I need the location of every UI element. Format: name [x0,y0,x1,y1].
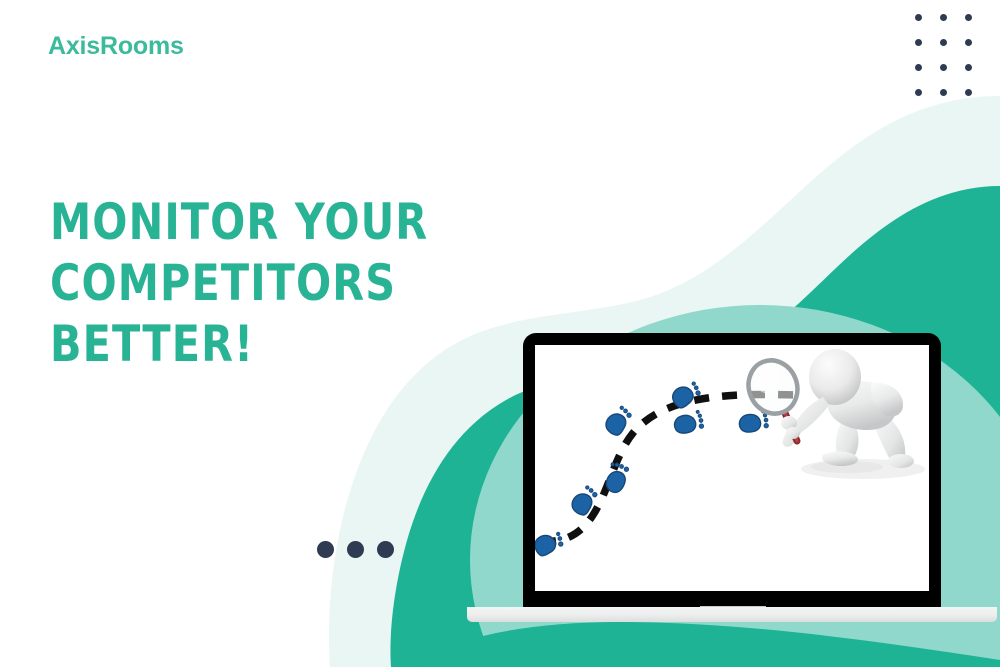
footprint-icon [562,478,606,521]
grid-dot [940,89,947,96]
grid-dot [940,39,947,46]
grid-dot [915,89,922,96]
grid-dot [915,64,922,71]
grid-dot [965,39,972,46]
magnifier-figure-icon [741,349,925,479]
grid-dot [965,89,972,96]
laptop-bezel [523,333,941,609]
grid-dot [915,14,922,21]
three-dots-icon [317,541,394,558]
dot-grid-icon [915,14,974,98]
accent-dot [317,541,334,558]
magnifier-lens [741,353,806,421]
page-title: MONITOR YOUR COMPETITORS BETTER! [50,192,400,375]
laptop-base [467,607,997,622]
screen-artwork [535,345,929,591]
grid-dot [940,64,947,71]
grid-dot [965,64,972,71]
headline-line-2: COMPETITORS [50,253,400,314]
accent-dot [347,541,364,558]
headline-line-3: BETTER! [50,314,400,375]
grid-dot [940,14,947,21]
laptop-screen [535,345,929,591]
grid-dot [965,14,972,21]
footprint-icon [671,407,708,439]
grid-dot [915,39,922,46]
accent-dot [377,541,394,558]
banner-canvas: AxisRooms MONITOR YOUR COMPETITORS BETTE… [0,0,1000,667]
footprint-icon [535,526,567,559]
laptop-illustration [523,333,943,609]
headline-line-1: MONITOR YOUR [50,192,400,253]
brand-logo: AxisRooms [48,34,184,59]
